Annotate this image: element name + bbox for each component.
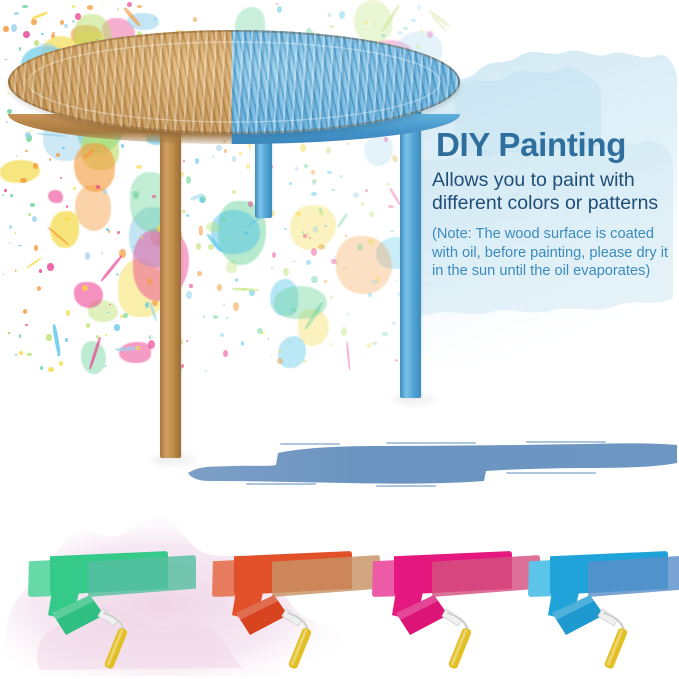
table-leg-right [400, 110, 421, 398]
copy-block: DIY Painting Allows you to paint with di… [432, 128, 676, 281]
note-text: (Note: The wood surface is coated with o… [432, 225, 676, 281]
table-leg-front-left [160, 118, 181, 458]
tabletop-surface [8, 30, 460, 134]
roller-magenta [372, 545, 542, 665]
roller-blue [528, 545, 679, 665]
subheadline-text: Allows you to paint with different color… [432, 169, 676, 215]
round-slatted-table [0, 18, 470, 458]
page-title: DIY Painting [436, 128, 676, 163]
roller-red [212, 545, 382, 665]
roller-green [28, 545, 198, 665]
banner-canvas: DIY Painting Allows you to paint with di… [0, 0, 679, 679]
